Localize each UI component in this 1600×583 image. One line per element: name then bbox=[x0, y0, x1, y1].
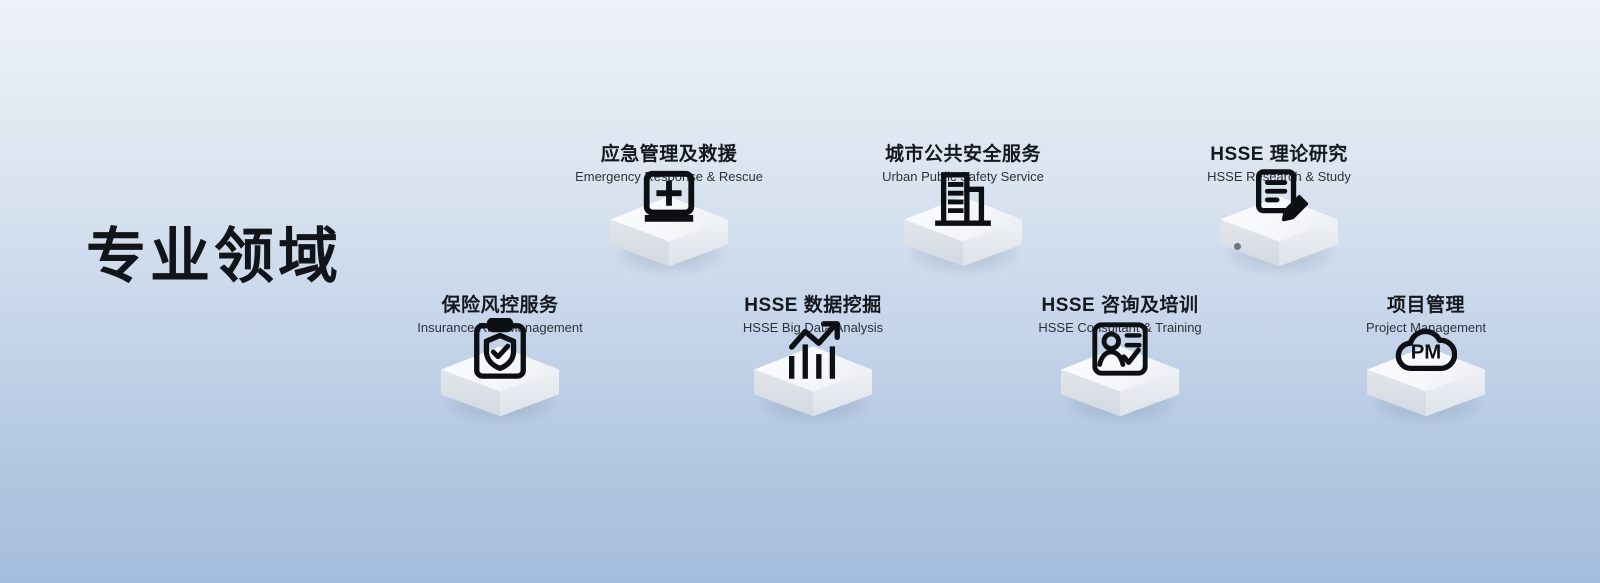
professional-domains-banner: 专业领域 应急管理及救援Emergency Response & Rescue … bbox=[0, 0, 1600, 583]
domain-icon-pedestal-project-management: PM bbox=[1367, 336, 1485, 428]
first-aid-kit-icon bbox=[638, 168, 700, 230]
domain-label-cn: HSSE 咨询及培训 bbox=[1000, 296, 1240, 317]
domain-item-urban-public-safety[interactable]: 城市公共安全服务Urban Public Safety Service bbox=[843, 145, 1083, 278]
id-card-person-check-icon bbox=[1089, 318, 1151, 380]
domain-label-cn: 城市公共安全服务 bbox=[843, 145, 1083, 166]
domain-item-hsse-research[interactable]: HSSE 理论研究HSSE Research & Study bbox=[1159, 145, 1399, 278]
bar-chart-trend-icon bbox=[782, 318, 844, 380]
document-pencil-icon bbox=[1248, 168, 1310, 230]
domain-item-hsse-consultant[interactable]: HSSE 咨询及培训HSSE Consultant & Training bbox=[1000, 296, 1240, 428]
cloud-pm-icon: PM bbox=[1395, 318, 1457, 380]
domain-label-cn: HSSE 理论研究 bbox=[1159, 145, 1399, 166]
domain-label-cn: HSSE 数据挖掘 bbox=[693, 296, 933, 317]
domain-label-cn: 应急管理及救援 bbox=[549, 145, 789, 166]
domain-label-cn: 项目管理 bbox=[1306, 296, 1546, 317]
domain-icon-pedestal-insurance-risk bbox=[441, 336, 559, 428]
domain-item-insurance-risk[interactable]: 保险风控服务Insurance Risk Management bbox=[380, 296, 620, 428]
clipboard-shield-check-icon bbox=[469, 318, 531, 380]
domain-item-project-management[interactable]: 项目管理Project Management PM bbox=[1306, 296, 1546, 428]
domain-item-hsse-big-data[interactable]: HSSE 数据挖掘HSSE Big Data Analysis bbox=[693, 296, 933, 428]
domain-icon-pedestal-hsse-consultant bbox=[1061, 336, 1179, 428]
domain-label-cn: 保险风控服务 bbox=[380, 296, 620, 317]
domain-icon-pedestal-hsse-big-data bbox=[754, 336, 872, 428]
domain-icon-pedestal-emergency-response bbox=[610, 186, 728, 278]
domain-icon-pedestal-hsse-research bbox=[1220, 186, 1338, 278]
svg-text:PM: PM bbox=[1411, 342, 1442, 364]
office-buildings-icon bbox=[932, 168, 994, 230]
page-title: 专业领域 bbox=[86, 227, 342, 287]
domain-item-emergency-response[interactable]: 应急管理及救援Emergency Response & Rescue bbox=[549, 145, 789, 278]
domain-icon-pedestal-urban-public-safety bbox=[904, 186, 1022, 278]
